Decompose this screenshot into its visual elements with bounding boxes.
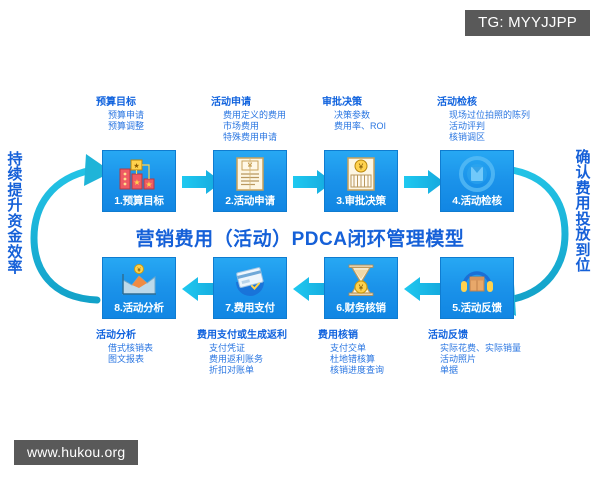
note-line: 现场过位拍照的陈列 [437, 110, 530, 121]
note-line: 市场费用 [211, 121, 286, 132]
note-line: 活动照片 [428, 354, 521, 365]
step-label: 1.预算目标 [103, 193, 175, 208]
hourglass-coin-icon: ¥ [325, 260, 397, 302]
step-label: 6.财务核销 [325, 300, 397, 315]
side-caption-char: 投 [572, 212, 594, 227]
note-line: 图文报表 [96, 354, 153, 365]
step-box-financial-writeoff[interactable]: ¥ 6.财务核销 [324, 257, 398, 319]
note-approval-decision: 审批决策 决策参数 费用率、ROI [322, 97, 386, 132]
side-caption-char: 到 [572, 243, 594, 258]
note-activity-analysis: 活动分析 借式核销表 图文报表 [96, 330, 153, 365]
side-caption-char: 认 [572, 165, 594, 180]
note-line: 特殊费用申请 [211, 132, 286, 143]
side-caption-char: 放 [572, 227, 594, 242]
side-caption-char: 效 [4, 245, 26, 260]
side-caption-char: 用 [572, 196, 594, 211]
diagram-canvas: 预算目标 预算申请 预算调整 活动申请 费用定义的费用 市场费用 特殊费用申请 … [0, 0, 600, 480]
note-activity-inspection: 活动检核 现场过位拍照的陈列 活动评判 核销调区 [437, 97, 530, 143]
note-line: 费用定义的费用 [211, 110, 286, 121]
arrow-step3-to-step4 [404, 170, 444, 194]
side-caption-char: 位 [572, 258, 594, 273]
step-box-activity-application[interactable]: ¥ 2.活动申请 [213, 150, 287, 212]
side-caption-char: 率 [4, 260, 26, 275]
note-title: 活动申请 [211, 97, 286, 110]
left-side-caption: 持续提升资金效率 [4, 152, 26, 276]
note-line: 预算调整 [96, 121, 144, 132]
note-line: 费用返利账务 [197, 354, 287, 365]
note-expense-payment: 费用支付或生成返利 支付凭证 费用返利账务 折扣对账单 [197, 330, 287, 376]
note-title: 预算目标 [96, 97, 144, 110]
note-title: 活动分析 [96, 330, 153, 343]
inspection-badge-icon [441, 153, 513, 195]
watermark-top: TG: MYYJJPP [465, 10, 590, 36]
note-line: 支付凭证 [197, 343, 287, 354]
note-line: 费用率、ROI [322, 121, 386, 132]
note-title: 审批决策 [322, 97, 386, 110]
note-title: 活动检核 [437, 97, 530, 110]
note-line: 核销进度查询 [318, 365, 384, 376]
analysis-chart-icon: ¥ [103, 260, 175, 302]
side-caption-char: 升 [4, 198, 26, 213]
step-label: 4.活动检核 [441, 193, 513, 208]
note-line: 活动评判 [437, 121, 530, 132]
step-box-activity-feedback[interactable]: 5.活动反馈 [440, 257, 514, 319]
note-title: 费用核销 [318, 330, 384, 343]
note-activity-application: 活动申请 费用定义的费用 市场费用 特殊费用申请 [211, 97, 286, 143]
note-title: 费用支付或生成返利 [197, 330, 287, 343]
note-title: 活动反馈 [428, 330, 521, 343]
side-caption-char: 资 [4, 214, 26, 229]
podium-chart-icon: ★ ★ ★ [103, 153, 175, 195]
note-line: 核销调区 [437, 132, 530, 143]
svg-text:¥: ¥ [358, 284, 364, 293]
note-line: 折扣对账单 [197, 365, 287, 376]
note-line: 借式核销表 [96, 343, 153, 354]
note-line: 单据 [428, 365, 521, 376]
step-label: 5.活动反馈 [441, 300, 513, 315]
note-activity-feedback: 活动反馈 实际花费、实际销量 活动照片 单据 [428, 330, 521, 376]
step-box-expense-payment[interactable]: 7.费用支付 [213, 257, 287, 319]
step-box-activity-analysis[interactable]: ¥ 8.活动分析 [102, 257, 176, 319]
right-side-caption-text: 确认费用投放到位 [572, 150, 594, 274]
right-side-caption: 确认费用投放到位 [572, 150, 594, 274]
note-line: 支付交单 [318, 343, 384, 354]
payment-card-icon [214, 260, 286, 302]
approval-book-icon: ¥ [325, 153, 397, 195]
svg-text:★: ★ [145, 180, 152, 189]
arrow-step5-to-step6 [404, 277, 444, 301]
left-side-caption-text: 持续提升资金效率 [4, 152, 26, 276]
note-expense-writeoff: 费用核销 支付交单 杜地错核算 核销进度查询 [318, 330, 384, 376]
step-label: 2.活动申请 [214, 193, 286, 208]
diagram-title: 营销费用（活动）PDCA闭环管理模型 [0, 224, 600, 251]
step-label: 8.活动分析 [103, 300, 175, 315]
side-caption-char: 费 [572, 181, 594, 196]
step-box-budget-target[interactable]: ★ ★ ★ 1.预算目标 [102, 150, 176, 212]
step-box-approval-decision[interactable]: ¥ 3.审批决策 [324, 150, 398, 212]
document-icon: ¥ [214, 153, 286, 195]
note-line: 决策参数 [322, 110, 386, 121]
step-label: 3.审批决策 [325, 193, 397, 208]
note-line: 实际花费、实际销量 [428, 343, 521, 354]
watermark-bottom: www.hukou.org [14, 440, 138, 465]
svg-text:★: ★ [133, 178, 140, 187]
side-caption-char: 提 [4, 183, 26, 198]
side-caption-char: 续 [4, 167, 26, 182]
step-label: 7.费用支付 [214, 300, 286, 315]
step-box-activity-inspection[interactable]: 4.活动检核 [440, 150, 514, 212]
svg-text:¥: ¥ [358, 163, 364, 172]
headset-support-icon [441, 260, 513, 302]
note-line: 预算申请 [96, 110, 144, 121]
svg-text:★: ★ [133, 162, 139, 170]
note-line: 杜地错核算 [318, 354, 384, 365]
side-caption-char: 金 [4, 229, 26, 244]
note-budget-target: 预算目标 预算申请 预算调整 [96, 97, 144, 132]
